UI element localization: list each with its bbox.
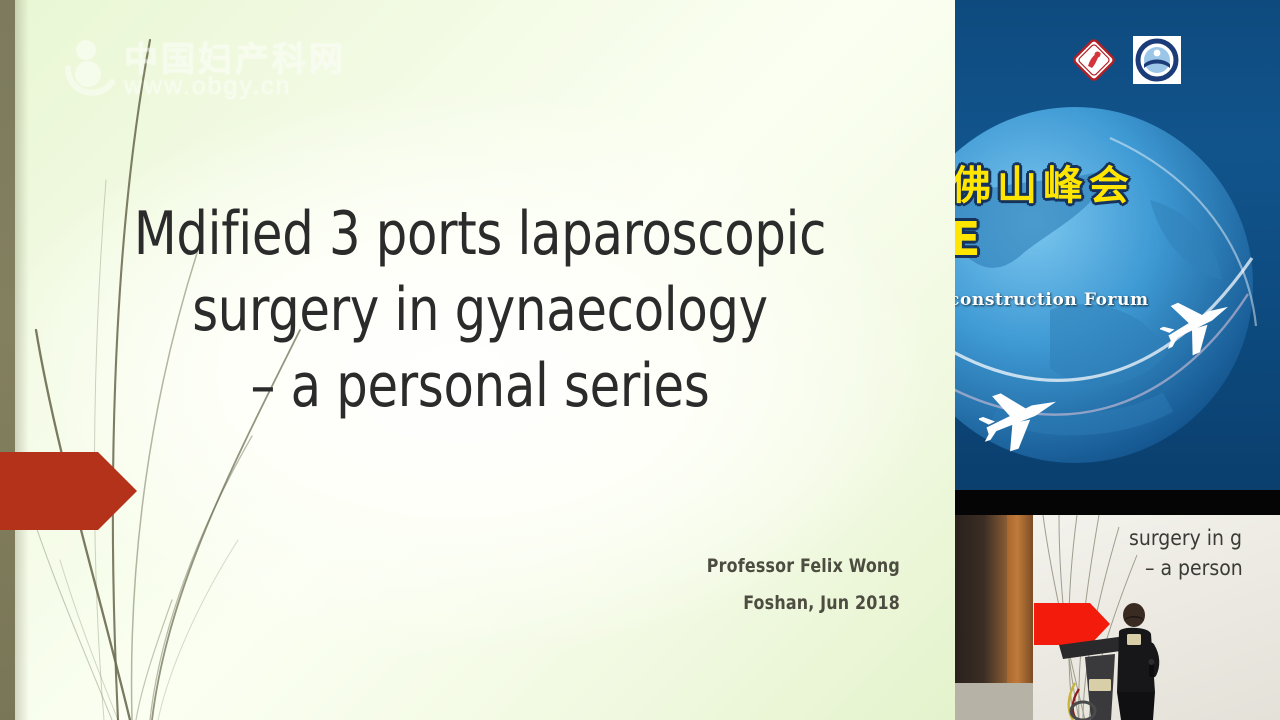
video-panel[interactable]: 佛山峰会 E construction Forum surgery in g [955, 0, 1280, 720]
slide-title-line-3: – a personal series [94, 348, 867, 424]
slide-title-line-2: surgery in gynaecology [94, 272, 867, 348]
banner-forum-text: construction Forum [955, 290, 1149, 310]
video-divider-band [955, 490, 1280, 515]
screen-capture: 中国妇产科网 www.obgy.cn Mdified 3 ports lapar… [0, 0, 1280, 720]
slide-title: Mdified 3 ports laparoscopic surgery in … [94, 196, 867, 424]
stage-floor [955, 683, 1033, 720]
blue-circular-seal-logo [1133, 36, 1181, 84]
stage-camera-view: surgery in g – a person [955, 515, 1280, 720]
conference-banner: 佛山峰会 E construction Forum [955, 0, 1280, 490]
projected-line-2: – a person [1129, 553, 1280, 583]
presentation-slide: 中国妇产科网 www.obgy.cn Mdified 3 ports lapar… [0, 0, 955, 720]
white-airplane [1160, 290, 1238, 356]
presenter-name: Professor Felix Wong [63, 548, 900, 585]
projected-line-1: surgery in g [1129, 523, 1280, 553]
banner-subtitle-letter: E [955, 212, 980, 266]
presenter-at-podium [1107, 600, 1167, 720]
place-and-date: Foshan, Jun 2018 [63, 585, 900, 622]
slide-byline: Professor Felix Wong Foshan, Jun 2018 [63, 548, 900, 622]
banner-title-cn: 佛山峰会 [955, 153, 1191, 211]
red-diamond-emblem-logo [1072, 38, 1116, 82]
slide-title-line-1: Mdified 3 ports laparoscopic [94, 196, 867, 272]
white-airplane [979, 382, 1065, 452]
projected-slide-text: surgery in g – a person [1129, 523, 1280, 583]
